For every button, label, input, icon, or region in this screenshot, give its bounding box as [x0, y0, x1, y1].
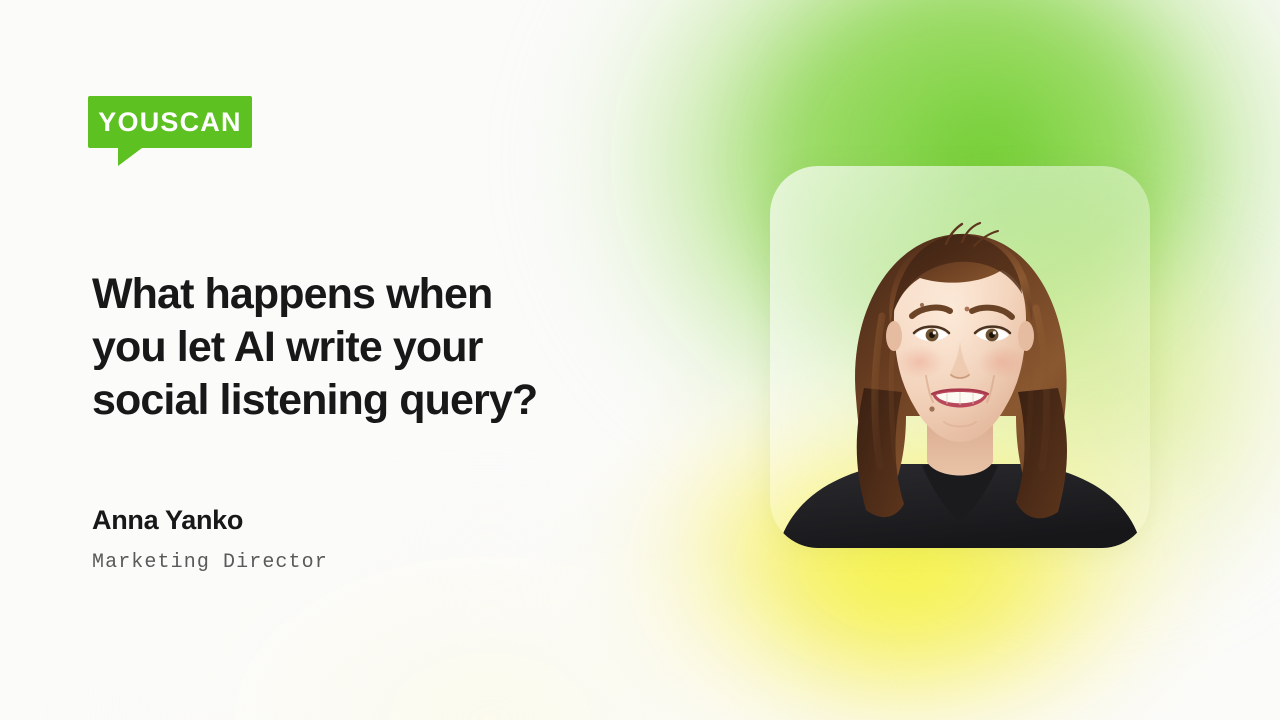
speaker-name: Anna Yanko	[92, 504, 328, 536]
logo-wordmark: YOUSCAN	[98, 109, 241, 136]
youscan-logo[interactable]: YOUSCAN	[88, 96, 252, 148]
headline-line-3: social listening query?	[92, 374, 692, 427]
speaker-block: Anna Yanko Marketing Director	[92, 504, 328, 575]
logo-speech-bubble: YOUSCAN	[88, 96, 252, 148]
speaker-avatar-card	[770, 166, 1150, 548]
headline-line-1: What happens when	[92, 268, 692, 321]
speaker-role: Marketing Director	[92, 551, 328, 575]
avatar	[770, 166, 1150, 548]
headline: What happens when you let AI write your …	[92, 268, 692, 427]
headline-line-2: you let AI write your	[92, 321, 692, 374]
logo-speech-bubble-tail-icon	[118, 148, 142, 166]
